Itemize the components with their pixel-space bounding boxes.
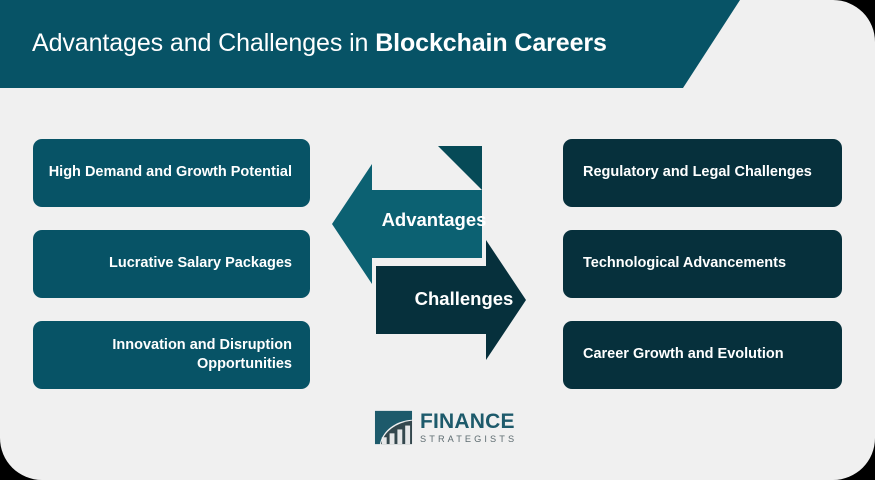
challenge-item-1[interactable]: Regulatory and Legal Challenges: [563, 139, 842, 207]
advantage-item-2-label: Lucrative Salary Packages: [109, 254, 292, 273]
advantage-item-1[interactable]: High Demand and Growth Potential: [33, 139, 310, 207]
advantage-item-2[interactable]: Lucrative Salary Packages: [33, 230, 310, 298]
arrows-svg: [330, 146, 550, 386]
advantage-item-3-label: Innovation and Disruption Opportunities: [47, 336, 292, 375]
challenge-item-3-label: Career Growth and Evolution: [583, 345, 784, 364]
logo-wordmark: FINANCE STRATEGISTS: [420, 411, 517, 444]
page-title-bold: Blockchain Careers: [375, 29, 607, 57]
page-title: Advantages and Challenges in Blockchain …: [32, 29, 607, 58]
challenge-item-2[interactable]: Technological Advancements: [563, 230, 842, 298]
logo-primary-text: FINANCE: [420, 411, 517, 432]
advantages-fold-icon: [438, 146, 482, 190]
challenges-label: Challenges: [388, 288, 540, 310]
advantage-item-3[interactable]: Innovation and Disruption Opportunities: [33, 321, 310, 389]
challenge-item-1-label: Regulatory and Legal Challenges: [583, 163, 812, 182]
bar-chart-logo-icon: [374, 408, 413, 447]
challenge-item-3[interactable]: Career Growth and Evolution: [563, 321, 842, 389]
center-arrows-group: Advantages Challenges: [330, 146, 550, 386]
advantage-item-1-label: High Demand and Growth Potential: [49, 163, 292, 182]
advantages-label: Advantages: [358, 209, 510, 231]
brand-logo: FINANCE STRATEGISTS: [374, 408, 517, 447]
logo-secondary-text: STRATEGISTS: [420, 435, 517, 444]
challenge-item-2-label: Technological Advancements: [583, 254, 786, 273]
infographic-root: Advantages and Challenges in Blockchain …: [0, 0, 875, 480]
page-title-regular: Advantages and Challenges in: [32, 29, 375, 57]
